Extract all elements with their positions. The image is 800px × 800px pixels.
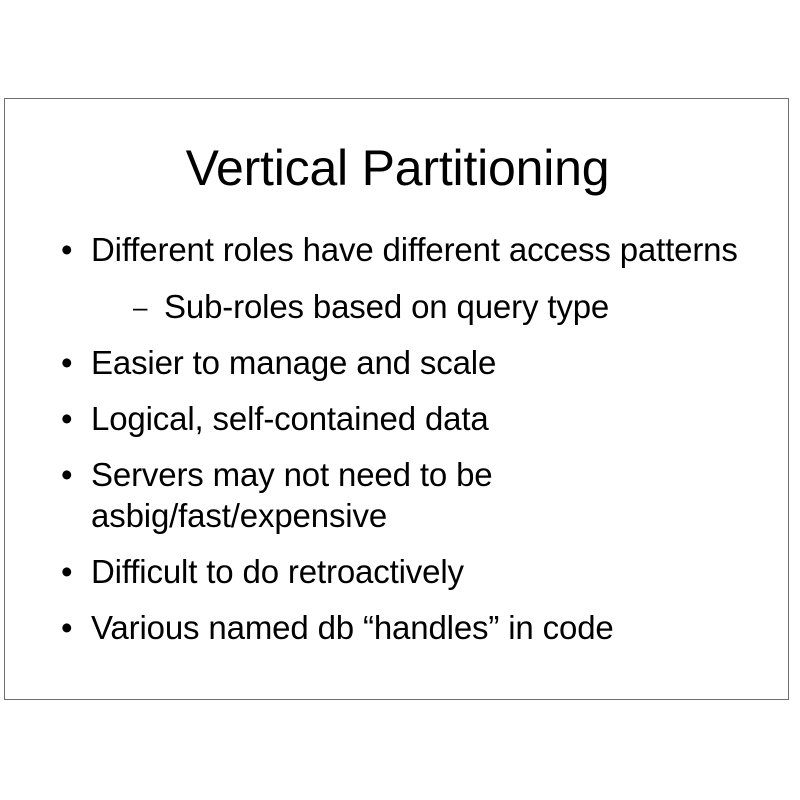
round-bullet-icon: • xyxy=(61,342,72,383)
round-bullet-icon: • xyxy=(61,398,72,439)
slide-frame: Vertical Partitioning • Different roles … xyxy=(4,98,789,700)
bullet-item: • Easier to manage and scale xyxy=(5,342,790,383)
round-bullet-icon: • xyxy=(61,454,72,495)
bullet-text: Easier to manage and scale xyxy=(91,342,790,383)
bullet-item: • Difficult to do retroactively xyxy=(5,551,790,592)
dash-bullet-icon: – xyxy=(133,286,147,329)
bullet-text: Different roles have different access pa… xyxy=(91,229,790,270)
sub-bullet-item: – Sub-roles based on query type xyxy=(5,286,790,327)
sub-bullet-text: Sub-roles based on query type xyxy=(164,286,790,327)
bullet-item: • Servers may not need to be asbig/fast/… xyxy=(5,454,790,536)
round-bullet-icon: • xyxy=(61,229,72,270)
bullet-text: Servers may not need to be asbig/fast/ex… xyxy=(91,454,790,536)
bullet-item: • Different roles have different access … xyxy=(5,229,790,270)
round-bullet-icon: • xyxy=(61,607,72,648)
bullet-item: • Various named db “handles” in code xyxy=(5,607,790,648)
bullet-text: Various named db “handles” in code xyxy=(91,607,790,648)
bullet-item: • Logical, self-contained data xyxy=(5,398,790,439)
bullet-text: Logical, self-contained data xyxy=(91,398,790,439)
round-bullet-icon: • xyxy=(61,551,72,592)
bullet-text-line-2: big/fast/expensive xyxy=(126,497,387,534)
slide-title: Vertical Partitioning xyxy=(5,141,790,195)
bullet-list: • Different roles have different access … xyxy=(5,229,790,663)
slide-canvas: Vertical Partitioning • Different roles … xyxy=(0,0,800,800)
bullet-text: Difficult to do retroactively xyxy=(91,551,790,592)
